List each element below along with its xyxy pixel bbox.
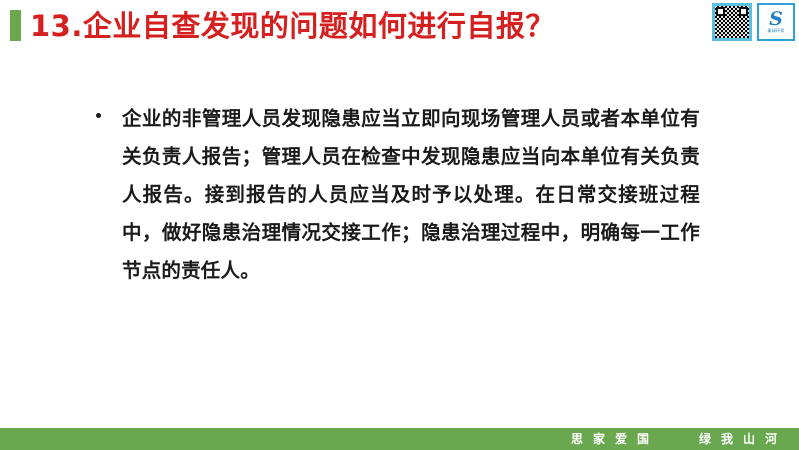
brand-logo[interactable]: S 秦绿环保 xyxy=(757,3,795,41)
slide-root: 13.企业自查发现的问题如何进行自报？ S 秦绿环保 企业的非管理人员发现隐患应… xyxy=(0,0,799,450)
green-bar-marker-icon xyxy=(10,10,21,41)
qr-code-pattern xyxy=(715,6,749,38)
slide-header: 13.企业自查发现的问题如何进行自报？ S 秦绿环保 xyxy=(0,0,799,52)
slide-content: 企业的非管理人员发现隐患应当立即向现场管理人员或者本单位有关负责人报告；管理人员… xyxy=(0,100,799,290)
bullet-dot-icon xyxy=(96,113,101,118)
qr-code-icon[interactable] xyxy=(712,3,752,41)
footer-bar: 思家爱国 绿我山河 xyxy=(0,428,799,450)
bullet-item: 企业的非管理人员发现隐患应当立即向现场管理人员或者本单位有关负责人报告；管理人员… xyxy=(96,100,700,290)
page-title: 13.企业自查发现的问题如何进行自报？ xyxy=(30,6,555,46)
body-paragraph: 企业的非管理人员发现隐患应当立即向现场管理人员或者本单位有关负责人报告；管理人员… xyxy=(122,100,700,290)
footer-slogan-left: 思家爱国 xyxy=(571,428,659,450)
header-marks: S 秦绿环保 xyxy=(712,3,795,41)
logo-caption: 秦绿环保 xyxy=(767,28,784,34)
footer-slogan-right: 绿我山河 xyxy=(699,428,787,450)
logo-glyph: S xyxy=(769,10,783,28)
